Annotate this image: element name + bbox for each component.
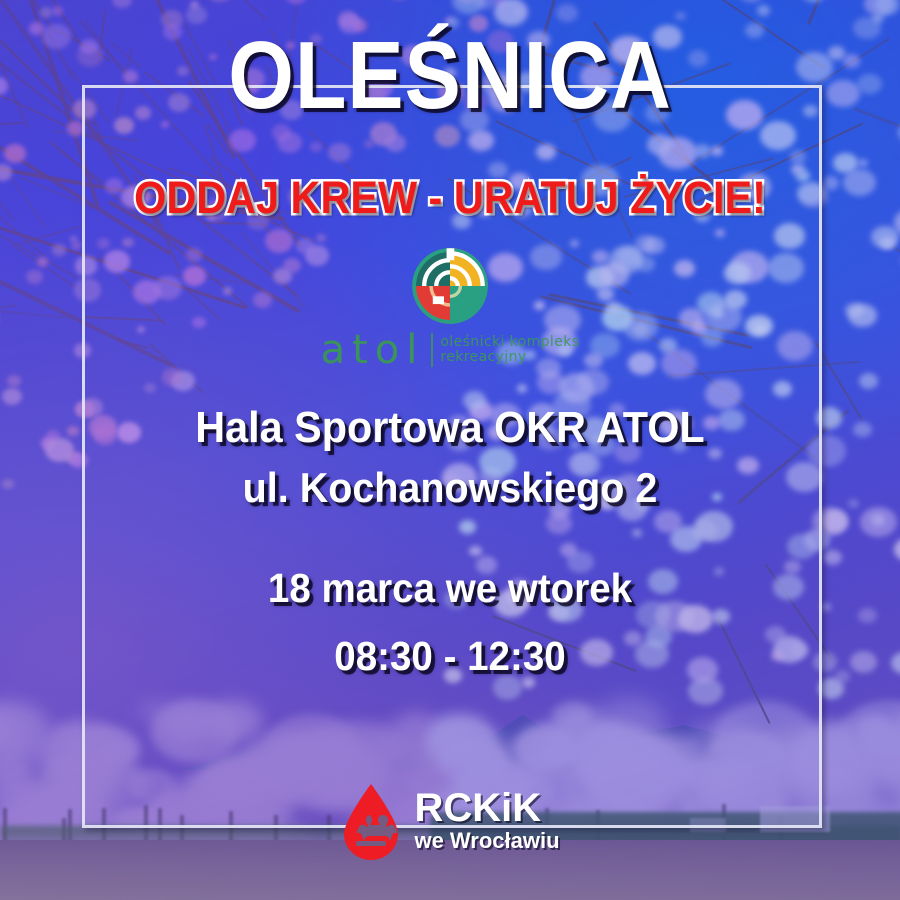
blood-drop-crown-icon — [340, 782, 402, 858]
atol-logo: atol oleśnicki kompleks rekreacyjny — [0, 243, 900, 370]
venue-address: ul. Kochanowskiego 2 — [27, 465, 873, 510]
page-title: OLEŚNICA — [54, 28, 846, 124]
rckik-subtitle: we Wrocławiu — [414, 830, 559, 852]
atol-tagline-line1: oleśnicki kompleks — [440, 334, 579, 350]
atol-tagline: oleśnicki kompleks rekreacyjny — [440, 335, 579, 366]
atol-divider — [431, 333, 433, 367]
poster-content: OLEŚNICA ODDAJ KREW - URATUJ ŻYCIE! — [0, 0, 900, 900]
rckik-logo: RCKiK we Wrocławiu — [0, 782, 900, 858]
atol-wordmark-text: atol — [321, 330, 425, 370]
atol-wordmark: atol oleśnicki kompleks rekreacyjny — [0, 330, 900, 370]
rckik-text-block: RCKiK we Wrocławiu — [414, 788, 559, 852]
rckik-name: RCKiK — [414, 788, 559, 828]
atol-spiral-icon — [407, 243, 493, 329]
slogan-text: ODDAJ KREW - URATUJ ŻYCIE! — [36, 175, 864, 220]
blood-donation-poster: OLEŚNICA ODDAJ KREW - URATUJ ŻYCIE! — [0, 0, 900, 900]
venue-name: Hala Sportowa OKR ATOL — [27, 404, 873, 452]
atol-tagline-line2: rekreacyjny — [440, 349, 526, 365]
event-date: 18 marca we wtorek — [27, 566, 873, 611]
event-time: 08:30 - 12:30 — [27, 634, 873, 679]
